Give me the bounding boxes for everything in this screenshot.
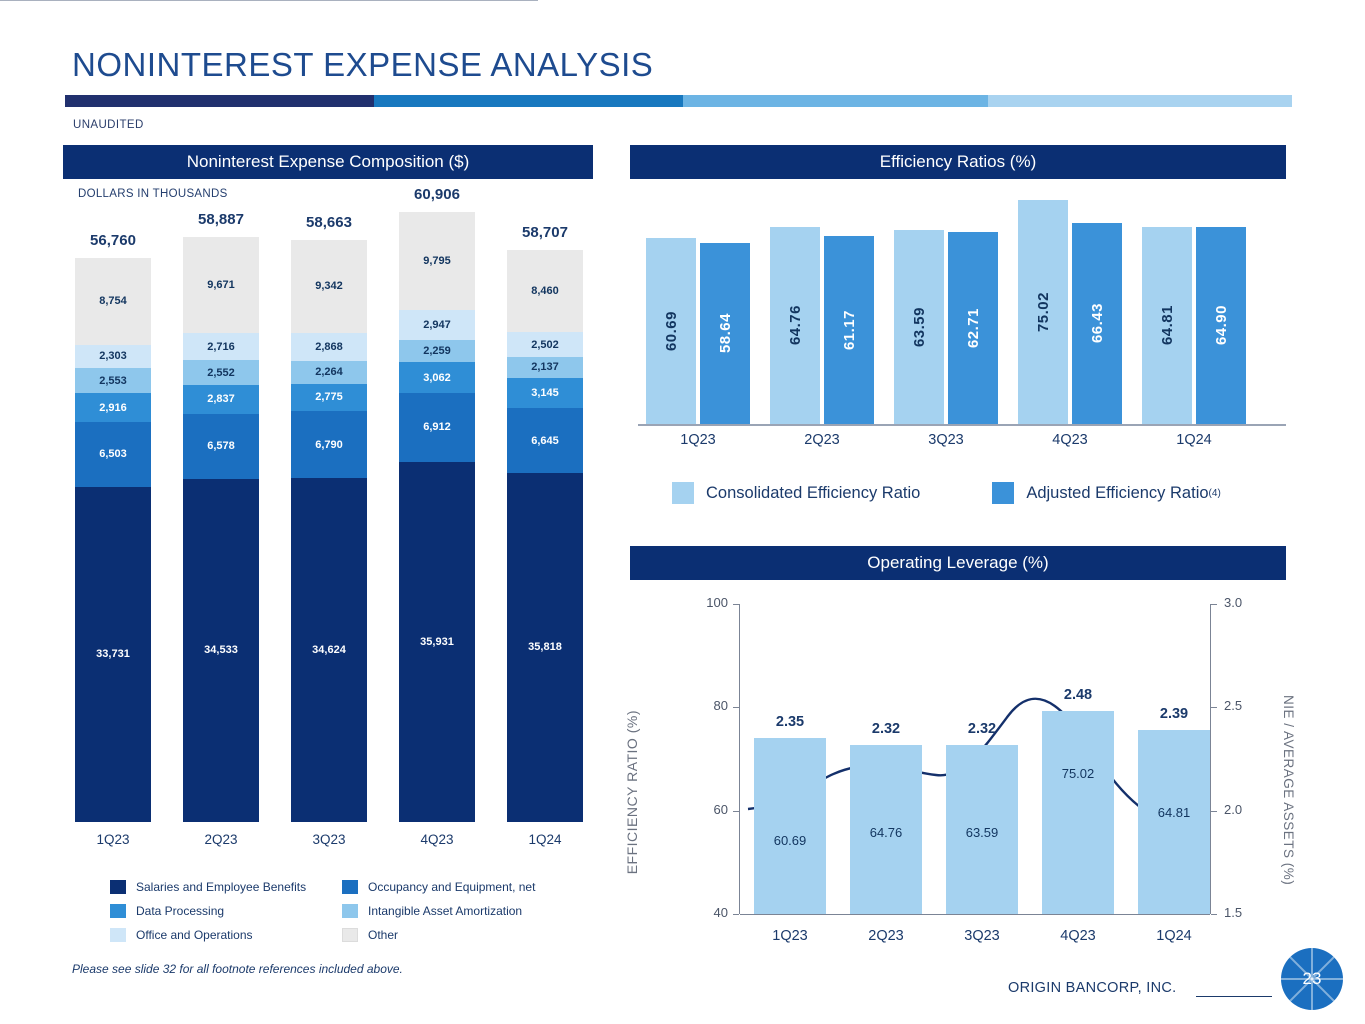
nie-bar-segment: 6,578 [183, 414, 259, 479]
nie-x-label: 2Q23 [171, 832, 271, 847]
leverage-x-label: 3Q23 [932, 928, 1032, 944]
nie-bar-segment: 35,818 [507, 473, 583, 822]
company-name: ORIGIN BANCORP, INC. [1008, 980, 1176, 996]
leverage-x-label: 4Q23 [1028, 928, 1128, 944]
efficiency-x-label: 2Q23 [762, 432, 882, 448]
nie-bar-segment: 2,137 [507, 357, 583, 378]
efficiency-bar-value: 58.64 [717, 313, 734, 353]
nie-total-label: 58,707 [490, 224, 600, 241]
nie-segment-value: 33,731 [96, 648, 130, 660]
slide: NONINTEREST EXPENSE ANALYSIS UNAUDITED N… [0, 0, 1365, 1024]
leverage-bar-value: 2.32 [932, 721, 1032, 737]
nie-bar-segment: 8,460 [507, 250, 583, 332]
leverage-x-label: 1Q23 [740, 928, 840, 944]
leverage-left-tick-label: 60 [682, 802, 728, 817]
rule-segment-3 [683, 95, 987, 107]
nie-segment-value: 3,145 [531, 387, 559, 399]
leverage-line-value: 64.81 [1138, 805, 1210, 820]
leverage-panel-header: Operating Leverage (%) [630, 546, 1286, 580]
efficiency-bar-value: 61.17 [841, 310, 858, 350]
nie-segment-value: 2,264 [315, 366, 343, 378]
leverage-left-tick-label: 100 [682, 595, 728, 610]
leverage-right-axis [1210, 604, 1211, 914]
leverage-right-tick [1211, 811, 1217, 812]
leverage-bar-value: 2.32 [836, 721, 936, 737]
legend-label: Other [368, 928, 398, 942]
efficiency-bar-chart: 60.6958.6464.7661.1763.5962.7175.0266.43… [638, 190, 1286, 435]
leverage-right-tick-label: 2.5 [1224, 698, 1270, 713]
efficiency-bar: 62.71 [948, 232, 998, 424]
nie-bar-segment: 2,264 [291, 361, 367, 383]
nie-segment-value: 6,503 [99, 448, 127, 460]
nie-bar-segment: 34,533 [183, 479, 259, 822]
leverage-line-value: 64.76 [850, 825, 922, 840]
leverage-left-axis-title: EFFICIENCY RATIO (%) [624, 710, 640, 874]
nie-x-label: 4Q23 [387, 832, 487, 847]
page-number: 23 [1303, 969, 1322, 989]
nie-segment-value: 2,553 [99, 375, 127, 387]
nie-bar-column: 9,6712,7162,5522,8376,57834,533 [183, 237, 259, 822]
nie-legend-item: Occupancy and Equipment, net [342, 880, 574, 894]
efficiency-bar-value: 60.69 [663, 311, 680, 351]
leverage-left-tick [733, 707, 739, 708]
efficiency-bar: 64.81 [1142, 227, 1192, 424]
nie-bar-column: 9,3422,8682,2642,7756,79034,624 [291, 240, 367, 822]
legend-swatch [992, 482, 1014, 504]
leverage-line-value: 60.69 [754, 833, 826, 848]
efficiency-bar: 63.59 [894, 230, 944, 424]
nie-bar-segment: 6,503 [75, 422, 151, 487]
efficiency-bar-value: 66.43 [1089, 303, 1106, 343]
company-underline [1196, 996, 1272, 997]
nie-segment-value: 2,775 [315, 391, 343, 403]
leverage-bar: 60.69 [754, 738, 826, 914]
legend-label: Occupancy and Equipment, net [368, 880, 535, 894]
leverage-left-tick-label: 40 [682, 905, 728, 920]
leverage-right-tick-label: 3.0 [1224, 595, 1270, 610]
efficiency-bar-value: 63.59 [911, 307, 928, 347]
leverage-right-tick [1211, 707, 1217, 708]
nie-segment-value: 9,795 [423, 255, 451, 267]
nie-bar-segment: 3,062 [399, 362, 475, 393]
nie-bar-column: 8,7542,3032,5532,9166,50333,731 [75, 258, 151, 822]
efficiency-bar-value: 64.76 [787, 305, 804, 345]
nie-bar-segment: 34,624 [291, 478, 367, 822]
leverage-left-tick [733, 914, 739, 915]
efficiency-bar-value: 64.81 [1159, 305, 1176, 345]
nie-units-label: DOLLARS IN THOUSANDS [78, 188, 228, 200]
efficiency-bar: 64.90 [1196, 227, 1246, 424]
nie-bar-segment: 2,947 [399, 310, 475, 340]
legend-label: Consolidated Efficiency Ratio [706, 484, 920, 503]
nie-segment-value: 2,868 [315, 341, 343, 353]
nie-bar-segment: 2,553 [75, 368, 151, 393]
nie-segment-value: 2,837 [207, 393, 235, 405]
nie-segment-value: 9,671 [207, 279, 235, 291]
rule-segment-4 [988, 95, 1292, 107]
legend-swatch [110, 880, 126, 894]
leverage-bar: 64.76 [850, 745, 922, 914]
nie-total-label: 58,887 [166, 211, 276, 228]
nie-segment-value: 2,259 [423, 345, 451, 357]
leverage-left-tick [733, 604, 739, 605]
nie-legend-item: Intangible Asset Amortization [342, 904, 574, 918]
nie-segment-value: 2,916 [99, 402, 127, 414]
nie-segment-value: 6,790 [315, 439, 343, 451]
leverage-bar: 75.02 [1042, 711, 1114, 914]
efficiency-bar-value: 75.02 [1035, 292, 1052, 332]
efficiency-bar: 75.02 [1018, 200, 1068, 424]
legend-label: Adjusted Efficiency Ratio [1026, 484, 1208, 503]
legend-swatch [110, 904, 126, 918]
nie-x-label: 3Q23 [279, 832, 379, 847]
nie-total-label: 56,760 [58, 232, 168, 249]
nie-total-label: 58,663 [274, 214, 384, 231]
header-rule [65, 95, 1292, 107]
leverage-line-value: 63.59 [946, 825, 1018, 840]
nie-segment-value: 2,716 [207, 341, 235, 353]
nie-legend-item: Data Processing [110, 904, 342, 918]
nie-bar-column: 9,7952,9472,2593,0626,91235,931 [399, 212, 475, 822]
leverage-left-tick [733, 811, 739, 812]
nie-panel-header: Noninterest Expense Composition ($) [63, 145, 593, 179]
leverage-bar-value: 2.48 [1028, 687, 1128, 703]
nie-bar-segment: 9,671 [183, 237, 259, 333]
nie-legend: Salaries and Employee BenefitsOccupancy … [110, 880, 580, 942]
nie-segment-value: 6,645 [531, 435, 559, 447]
efficiency-x-label: 1Q24 [1134, 432, 1254, 448]
footnote-text: Please see slide 32 for all footnote ref… [72, 962, 403, 976]
legend-label: Office and Operations [136, 928, 253, 942]
efficiency-legend: Consolidated Efficiency RatioAdjusted Ef… [672, 482, 1221, 504]
nie-bar-segment: 9,342 [291, 240, 367, 333]
nie-segment-value: 35,931 [420, 636, 454, 648]
nie-bar-segment: 2,552 [183, 360, 259, 385]
rule-segment-2 [374, 95, 683, 107]
leverage-right-tick-label: 1.5 [1224, 905, 1270, 920]
leverage-x-axis [740, 914, 1210, 915]
efficiency-bar: 61.17 [824, 236, 874, 424]
page-number-badge: 23 [1281, 948, 1343, 1010]
leverage-plot-area: 60.692.351Q2364.762.322Q2363.592.323Q237… [740, 604, 1210, 914]
efficiency-bar-value: 62.71 [965, 308, 982, 348]
nie-bar-segment: 2,868 [291, 333, 367, 361]
nie-segment-value: 9,342 [315, 280, 343, 292]
leverage-bar: 64.81 [1138, 730, 1210, 914]
legend-swatch [342, 928, 358, 942]
nie-segment-value: 35,818 [528, 641, 562, 653]
leverage-bar-value: 2.39 [1124, 706, 1224, 722]
leverage-line-value: 75.02 [1042, 766, 1114, 781]
rule-segment-1 [65, 95, 374, 107]
nie-bar-segment: 6,645 [507, 408, 583, 473]
nie-x-label: 1Q23 [63, 832, 163, 847]
efficiency-legend-item: Consolidated Efficiency Ratio [672, 482, 920, 504]
leverage-x-label: 1Q24 [1124, 928, 1224, 944]
nie-bar-segment: 2,303 [75, 345, 151, 368]
nie-stacked-bar-chart: 56,7608,7542,3032,5532,9166,50333,73158,… [63, 200, 603, 825]
leverage-right-tick-label: 2.0 [1224, 802, 1270, 817]
nie-bar-segment: 2,916 [75, 393, 151, 422]
leverage-x-label: 2Q23 [836, 928, 936, 944]
nie-segment-value: 2,552 [207, 367, 235, 379]
efficiency-bar: 60.69 [646, 238, 696, 424]
nie-bar-segment: 2,837 [183, 385, 259, 413]
nie-bar-segment: 8,754 [75, 258, 151, 345]
leverage-bar-value: 2.35 [740, 714, 840, 730]
nie-segment-value: 6,578 [207, 440, 235, 452]
leverage-right-tick [1211, 914, 1217, 915]
nie-legend-item: Salaries and Employee Benefits [110, 880, 342, 894]
nie-bar-segment: 35,931 [399, 462, 475, 822]
nie-legend-item: Other [342, 928, 574, 942]
legend-label: Data Processing [136, 904, 224, 918]
nie-segment-value: 34,533 [204, 644, 238, 656]
leverage-bar: 63.59 [946, 745, 1018, 914]
nie-segment-value: 34,624 [312, 644, 346, 656]
nie-segment-value: 8,754 [99, 295, 127, 307]
nie-bar-column: 8,4602,5022,1373,1456,64535,818 [507, 250, 583, 822]
legend-swatch [342, 904, 358, 918]
nie-bar-segment: 2,259 [399, 340, 475, 363]
legend-label: Intangible Asset Amortization [368, 904, 522, 918]
efficiency-panel-header: Efficiency Ratios (%) [630, 145, 1286, 179]
nie-segment-value: 2,303 [99, 350, 127, 362]
nie-x-label: 1Q24 [495, 832, 595, 847]
legend-swatch [110, 928, 126, 942]
nie-total-label: 60,906 [382, 186, 492, 203]
legend-label: Salaries and Employee Benefits [136, 880, 306, 894]
nie-bar-segment: 2,502 [507, 332, 583, 356]
nie-bar-segment: 3,145 [507, 378, 583, 409]
legend-footnote-marker: (4) [1209, 488, 1221, 499]
operating-leverage-chart: EFFICIENCY RATIO (%) NIE / AVERAGE ASSET… [630, 590, 1286, 935]
page-title: NONINTEREST EXPENSE ANALYSIS [72, 46, 653, 84]
nie-bar-segment: 6,790 [291, 411, 367, 478]
efficiency-bar: 58.64 [700, 243, 750, 424]
leverage-left-tick-label: 80 [682, 698, 728, 713]
nie-x-axis [0, 0, 538, 1]
nie-bar-segment: 9,795 [399, 212, 475, 310]
nie-bar-segment: 2,716 [183, 333, 259, 360]
efficiency-legend-item: Adjusted Efficiency Ratio(4) [992, 482, 1220, 504]
nie-segment-value: 2,947 [423, 319, 451, 331]
efficiency-bar-value: 64.90 [1213, 305, 1230, 345]
efficiency-x-axis [638, 424, 1286, 426]
efficiency-bar: 66.43 [1072, 223, 1122, 424]
nie-segment-value: 2,502 [531, 339, 559, 351]
nie-segment-value: 8,460 [531, 285, 559, 297]
nie-segment-value: 6,912 [423, 421, 451, 433]
efficiency-bar: 64.76 [770, 227, 820, 424]
leverage-right-axis-title: NIE / AVERAGE ASSETS (%) [1281, 695, 1296, 885]
nie-segment-value: 3,062 [423, 372, 451, 384]
nie-bar-segment: 33,731 [75, 487, 151, 822]
efficiency-x-label: 3Q23 [886, 432, 1006, 448]
efficiency-x-label: 4Q23 [1010, 432, 1130, 448]
leverage-right-tick [1211, 604, 1217, 605]
nie-segment-value: 2,137 [531, 361, 559, 373]
nie-bar-segment: 2,775 [291, 384, 367, 412]
nie-legend-item: Office and Operations [110, 928, 342, 942]
legend-swatch [342, 880, 358, 894]
legend-swatch [672, 482, 694, 504]
unaudited-label: UNAUDITED [73, 119, 144, 131]
nie-bar-segment: 6,912 [399, 393, 475, 462]
efficiency-x-label: 1Q23 [638, 432, 758, 448]
